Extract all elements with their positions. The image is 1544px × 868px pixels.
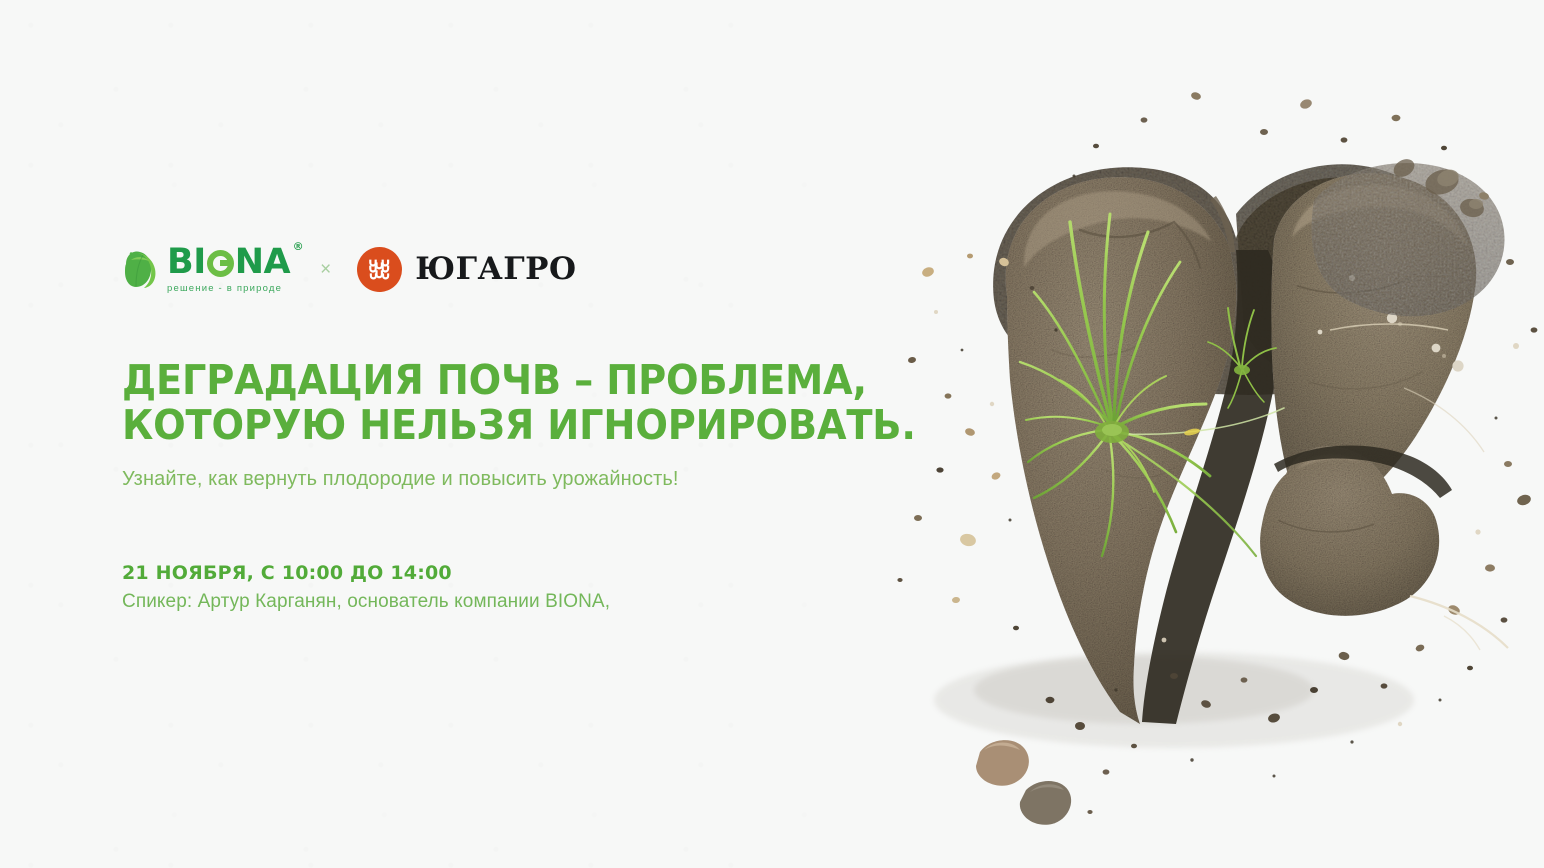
headline-line-2: КОТОРУЮ НЕЛЬЗЯ ИГНОРИРОВАТЬ. (122, 403, 861, 448)
biona-letter-n: N (235, 245, 264, 280)
biona-tagline: решение - в природе (167, 283, 282, 294)
registered-trademark-icon: ® (293, 241, 304, 252)
headline-line-1: ДЕГРАДАЦИЯ ПОЧВ – ПРОБЛЕМА, (122, 358, 861, 403)
biona-letter-i: I (193, 245, 206, 280)
broken-soil-heart-photo (844, 0, 1544, 868)
yugagro-logo[interactable]: ЮГАГРО (357, 247, 576, 292)
biona-letter-b: B (167, 245, 193, 280)
content-column: BINA ® решение - в природе × (122, 0, 902, 868)
page-subtitle: Узнайте, как вернуть плодородие и повыси… (122, 466, 679, 492)
yugagro-wordmark: ЮГАГРО (415, 254, 576, 285)
leaf-icon (122, 248, 160, 290)
logo-lockup: BINA ® решение - в природе × (122, 238, 577, 300)
logo-separator-x: × (320, 260, 331, 279)
biona-logo[interactable]: BINA ® решение - в природе (122, 245, 290, 294)
yugagro-mark (357, 247, 402, 292)
promo-banner: BINA ® решение - в природе × (0, 0, 1544, 868)
event-datetime: 21 НОЯБРЯ, С 10:00 ДО 14:00 (122, 562, 452, 584)
wheat-ear-icon (364, 254, 395, 285)
event-speaker: Спикер: Артур Карганян, основатель компа… (122, 591, 610, 613)
biona-o-ring-icon (207, 250, 234, 277)
biona-wordmark: BINA ® решение - в природе (167, 245, 290, 294)
biona-word: BINA ® (167, 245, 290, 280)
page-title: ДЕГРАДАЦИЯ ПОЧВ – ПРОБЛЕМА, КОТОРУЮ НЕЛЬ… (122, 358, 861, 448)
biona-letter-a: A (264, 245, 291, 280)
